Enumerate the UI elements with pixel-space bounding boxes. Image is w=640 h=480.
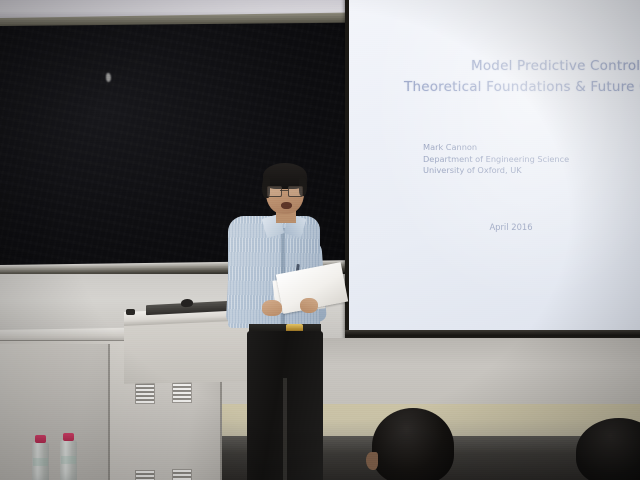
presenter-mouth [281,202,292,209]
presenter-hand-left [262,300,282,316]
lecture-hall-scene: Model Predictive Control Theoretical Fou… [0,0,640,480]
presenter-hand-right [300,298,318,313]
audience-head-left [372,408,454,480]
glasses-bridge [280,190,288,191]
trouser-leg-gap [283,378,287,480]
glasses-icon [267,186,303,195]
glasses-lens-right [288,186,303,197]
glasses-lens-left [267,186,282,197]
audience-ear-left [366,452,378,470]
presenter [0,0,640,480]
